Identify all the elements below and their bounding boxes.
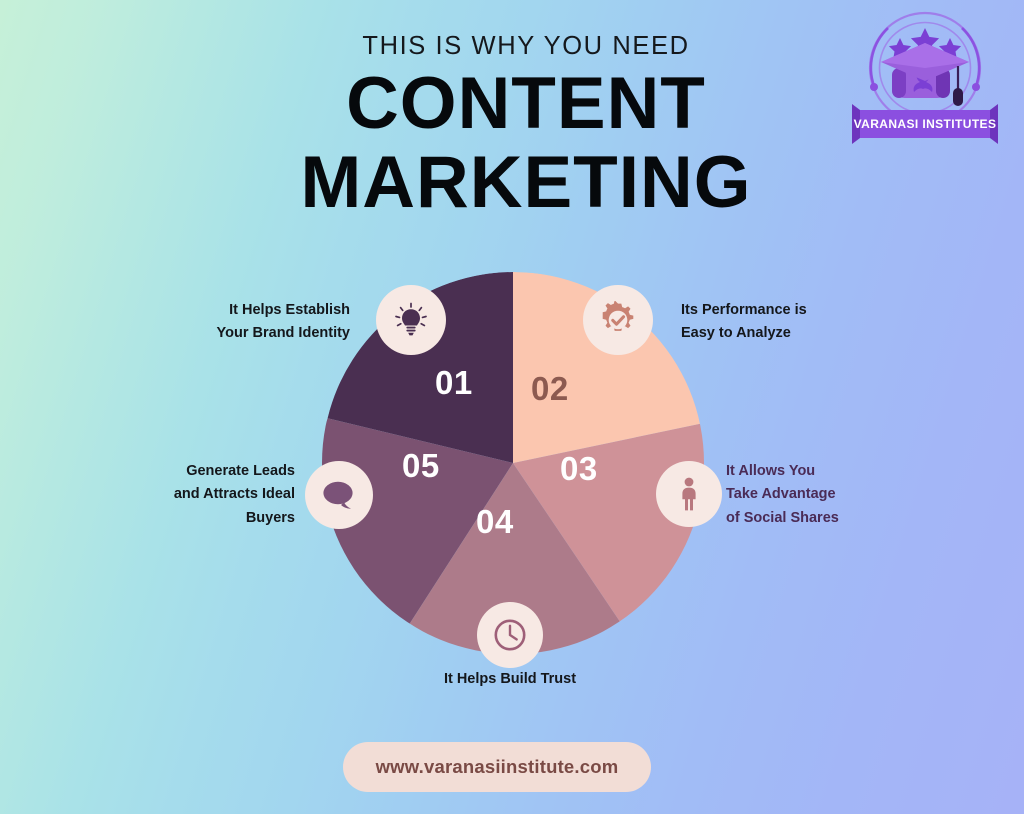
slice-label-02-line-2: Easy to Analyze: [681, 322, 871, 345]
website-url-pill[interactable]: www.varanasiinstitute.com: [343, 742, 651, 792]
slice-label-03-line-2: Take Advantage: [726, 483, 916, 506]
infographic-poster: THIS IS WHY YOU NEED CONTENT MARKETING: [0, 0, 1024, 814]
slice-number-02: 02: [531, 372, 569, 405]
slice-number-01: 01: [435, 366, 473, 399]
logo-banner-text: VARANASI INSTITUTES: [854, 117, 997, 131]
slice-number-03: 03: [560, 452, 598, 485]
slice-label-04: It Helps Build Trust: [410, 668, 610, 691]
slice-label-01: It Helps Establish Your Brand Identity: [198, 299, 350, 346]
slice-label-04-line-1: It Helps Build Trust: [410, 668, 610, 691]
slice-label-05-line-3: Buyers: [141, 507, 295, 530]
clock-icon: [493, 618, 527, 652]
slice-label-03-line-1: It Allows You: [726, 460, 916, 483]
slice-label-03: It Allows You Take Advantage of Social S…: [726, 460, 916, 530]
speech-bubble-icon-bubble[interactable]: [305, 461, 373, 529]
slice-label-05-line-1: Generate Leads: [141, 460, 295, 483]
slice-label-05-line-2: and Attracts Ideal: [141, 483, 295, 506]
clock-icon-bubble[interactable]: [477, 602, 543, 668]
slice-label-03-line-3: of Social Shares: [726, 507, 916, 530]
lightbulb-icon-bubble[interactable]: [376, 285, 446, 355]
person-icon: [676, 477, 702, 511]
slice-label-05: Generate Leads and Attracts Ideal Buyers: [141, 460, 295, 530]
gear-check-icon: [599, 301, 637, 339]
page-title-line-2: MARKETING: [0, 147, 1024, 219]
gear-check-icon-bubble[interactable]: [583, 285, 653, 355]
website-url-text: www.varanasiinstitute.com: [376, 756, 619, 778]
speech-bubble-icon: [320, 478, 358, 512]
brand-logo: VARANASI INSTITUTES VARANASI INSTITUTES: [852, 6, 998, 148]
person-icon-bubble[interactable]: [656, 461, 722, 527]
slice-label-01-line-2: Your Brand Identity: [198, 322, 350, 345]
graduation-cap-emblem-icon: VARANASI INSTITUTES: [852, 6, 998, 148]
slice-label-02-line-1: Its Performance is: [681, 299, 871, 322]
lightbulb-icon: [392, 301, 430, 339]
slice-number-05: 05: [402, 449, 440, 482]
slice-number-04: 04: [476, 505, 514, 538]
slice-label-01-line-1: It Helps Establish: [198, 299, 350, 322]
slice-label-02: Its Performance is Easy to Analyze: [681, 299, 871, 346]
